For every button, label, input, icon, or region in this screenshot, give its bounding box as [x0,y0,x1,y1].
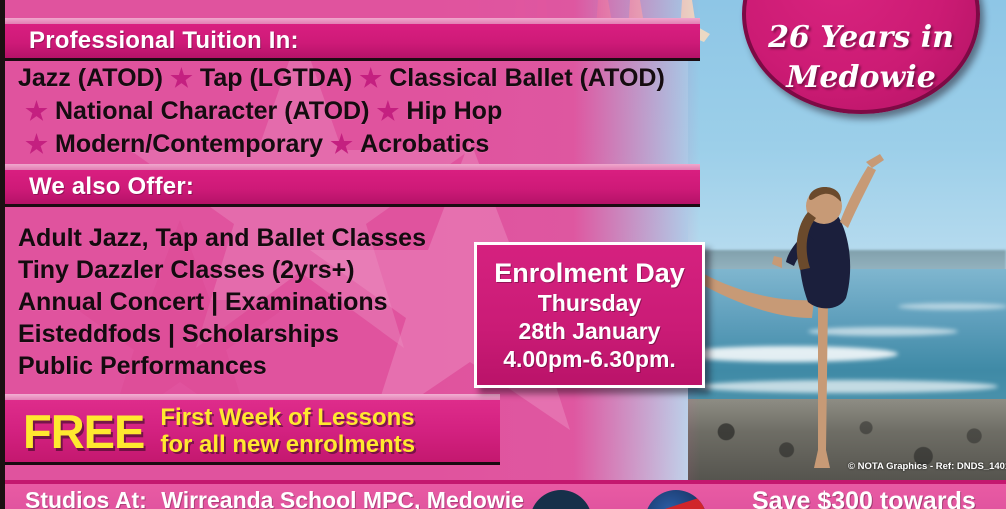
studios-label: Studios At: [25,487,147,509]
enrolment-time: 4.00pm-6.30pm. [503,345,676,373]
free-label: FREE [5,408,144,455]
studios-value: Wirreanda School MPC, Medowie [161,487,524,509]
tuition-heading-bar: Professional Tuition In: [5,24,700,58]
bottom-info-strip: Studios At: Wirreanda School MPC, Medowi… [0,480,1006,509]
bar-highlight [5,18,700,24]
free-offer-banner: FREE First Week of Lessons for all new e… [5,400,500,462]
star-icon [25,100,48,123]
class-item-label: Hip Hop [406,95,502,128]
class-item-label: Classical Ballet (ATOD) [389,62,665,95]
photo-wave [898,303,1006,310]
enrolment-date: 28th January [519,317,661,345]
free-line-1: First Week of Lessons [144,404,415,431]
star-icon [25,133,48,156]
free-line-2: for all new enrolments [144,431,415,458]
offers-heading-label: We also Offer: [5,173,194,201]
badge-line-2: Medowie [786,58,936,98]
class-item-label: Tap (LGTDA) [200,62,352,95]
offers-heading-bar: We also Offer: [5,170,700,204]
free-description: First Week of Lessons for all new enrolm… [144,404,415,458]
dance-school-advertisement-poster: Professional Tuition In: Jazz (ATOD) Tap… [0,0,1006,509]
star-icon [170,67,193,90]
enrolment-day-box: Enrolment Day Thursday 28th January 4.00… [474,242,705,388]
copyright-notice: © NOTA Graphics - Ref: DNDS_140121 [848,461,1006,472]
enrolment-title: Enrolment Day [494,257,685,289]
class-item-label: Acrobatics [360,128,489,161]
star-icon [359,67,382,90]
class-line: Jazz (ATOD) Tap (LGTDA) Classical Ballet… [18,62,698,95]
studios-location: Studios At: Wirreanda School MPC, Medowi… [5,487,524,509]
tuition-heading-label: Professional Tuition In: [5,27,299,55]
class-line: National Character (ATOD) Hip Hop [18,95,698,128]
left-border-edge [0,0,5,509]
class-line: Modern/Contemporary Acrobatics [18,128,698,161]
badge-line-1: 26 Years in [768,18,954,58]
bar-highlight [5,164,700,170]
class-item-label: Jazz (ATOD) [18,62,163,95]
class-item-label: National Character (ATOD) [55,95,369,128]
logo-swoosh-red [653,496,707,509]
star-icon [330,133,353,156]
class-item-label: Modern/Contemporary [55,128,323,161]
class-disciplines-list: Jazz (ATOD) Tap (LGTDA) Classical Ballet… [18,62,698,161]
star-icon [376,100,399,123]
enrolment-day: Thursday [538,289,642,317]
bar-highlight [5,394,500,400]
save-promotion-text: Save $300 towards [752,487,976,509]
